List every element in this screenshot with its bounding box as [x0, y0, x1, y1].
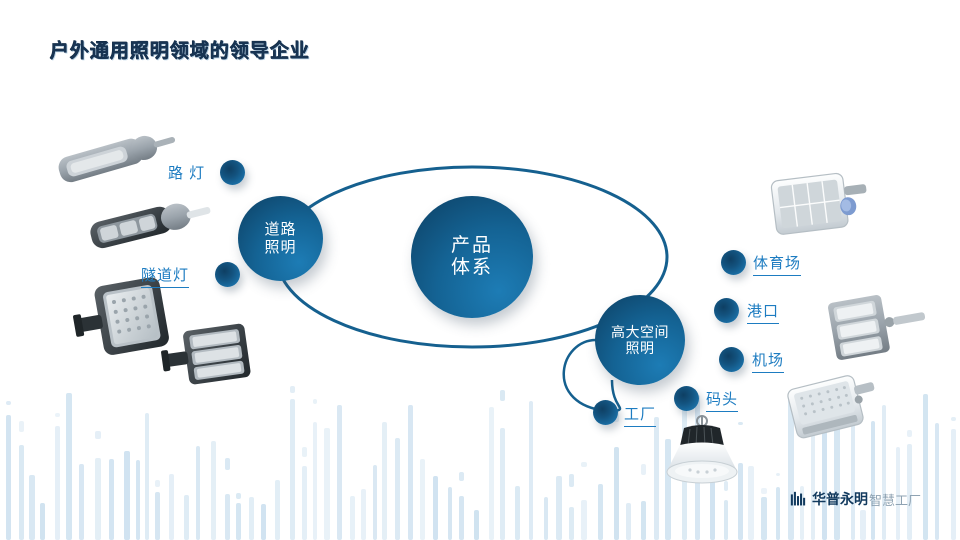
label-tunnel-lamp[interactable]: 隧道灯	[141, 264, 189, 288]
label-factory[interactable]: 工厂	[624, 403, 656, 427]
bullet-dot-street-lamp[interactable]	[220, 160, 245, 185]
label-street-lamp[interactable]: 路 灯	[168, 162, 205, 183]
connector-high-left	[564, 340, 600, 410]
center-node-product-system[interactable]: 产品 体系	[411, 196, 533, 318]
category-node-high-space-lighting[interactable]: 高大空间 照明	[595, 295, 685, 385]
hpm-logo-icon	[790, 491, 807, 508]
bullet-dot-stadium[interactable]	[721, 250, 746, 275]
label-factory-text: 工厂	[624, 403, 656, 427]
product-stadium-light	[762, 168, 872, 244]
slide-canvas: 户外通用照明领域的领导企业	[0, 0, 960, 540]
product-street-lamp-1	[48, 124, 178, 194]
brand-logo: 华普永明 智慧工厂	[790, 489, 921, 509]
label-stadium[interactable]: 体育场	[753, 252, 801, 276]
label-stadium-text: 体育场	[753, 252, 801, 276]
node-center-label: 产品 体系	[451, 235, 493, 279]
product-street-lamp-2	[82, 190, 212, 260]
label-street-lamp-text: 路 灯	[168, 165, 205, 182]
label-wharf[interactable]: 码头	[706, 388, 738, 412]
label-wharf-text: 码头	[706, 388, 738, 412]
label-airport-text: 机场	[752, 349, 784, 373]
category-node-road-lighting[interactable]: 道路 照明	[238, 196, 323, 281]
label-tunnel-lamp-text: 隧道灯	[141, 264, 189, 288]
label-airport[interactable]: 机场	[752, 349, 784, 373]
bullet-dot-port[interactable]	[714, 298, 739, 323]
bullet-dot-tunnel-lamp[interactable]	[215, 262, 240, 287]
product-tunnel-light-2	[158, 316, 263, 396]
product-port-light	[818, 286, 928, 368]
logo-sub-text: 智慧工厂	[869, 490, 921, 509]
bullet-dot-factory[interactable]	[593, 400, 618, 425]
node-road-label: 道路 照明	[264, 221, 296, 256]
product-highbay-light	[654, 412, 750, 504]
label-port-text: 港口	[747, 300, 779, 324]
bullet-dot-airport[interactable]	[719, 347, 744, 372]
product-airport-light	[778, 368, 888, 448]
bullet-dot-wharf[interactable]	[674, 386, 699, 411]
node-high-label: 高大空间 照明	[611, 324, 669, 356]
logo-main-text: 华普永明	[812, 489, 868, 509]
label-port[interactable]: 港口	[747, 300, 779, 324]
